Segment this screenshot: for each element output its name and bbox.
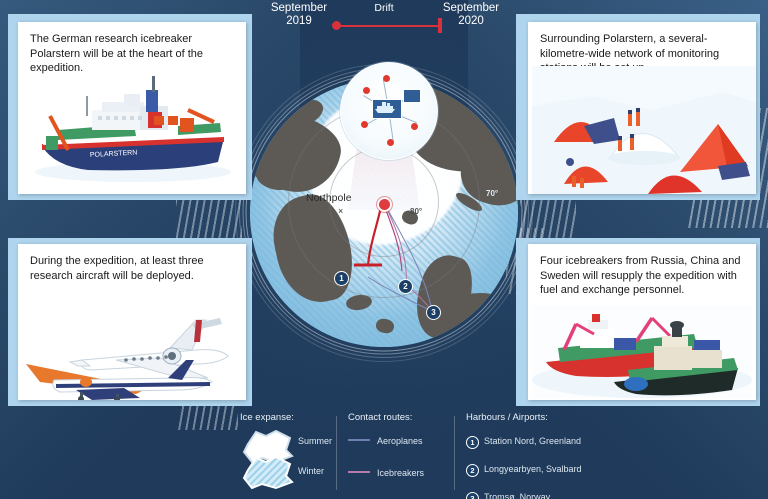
- drift-end-year: 2020: [432, 15, 510, 28]
- legend-harbour-item-3[interactable]: 3Tromsø, Norway: [466, 487, 666, 499]
- route-line-icebreakers-icon: [348, 471, 370, 473]
- ice-swatch-winter-icon: [242, 456, 296, 490]
- legend-harbour-item-2[interactable]: 2Longyearbyen, Svalbard: [466, 459, 666, 477]
- monitoring-station-dot-5[interactable]: [387, 139, 394, 146]
- panel-top-right[interactable]: Surrounding Polarstern, a several-kilome…: [528, 22, 756, 194]
- illustration-research-aircraft: [20, 294, 246, 400]
- legend-harbour-item-1[interactable]: 1Station Nord, Greenland: [466, 431, 666, 449]
- panel-top-left[interactable]: The German research icebreaker Polarster…: [18, 22, 246, 194]
- legend-group-harbours: Harbours / Airports: 1Station Nord, Gree…: [466, 412, 666, 499]
- legend-harbour-3-label: Tromsø, Norway: [484, 492, 550, 499]
- arctic-map[interactable]: 80° 70° Northpole × 1 2 3: [236, 22, 532, 404]
- satellite-station-box: [403, 89, 421, 103]
- legend: Ice expanse: Summer Winter Contact route…: [236, 412, 676, 498]
- legend-ice-winter-label: Winter: [298, 466, 324, 476]
- monitoring-station-dot-1[interactable]: [363, 87, 370, 94]
- legend-harbour-2-label: Longyearbyen, Svalbard: [484, 464, 582, 474]
- route-line-aeroplanes-icon: [348, 439, 370, 441]
- legend-divider-1: [336, 416, 337, 490]
- legend-group-ice: Ice expanse: Summer Winter: [240, 412, 332, 431]
- legend-route-aeroplanes: Aeroplanes: [348, 431, 448, 449]
- legend-route-aeroplanes-label: Aeroplanes: [377, 436, 423, 446]
- drift-arrow-line: [336, 25, 440, 27]
- legend-divider-2: [454, 416, 455, 490]
- panel-bottom-right-text: Four icebreakers from Russia, China and …: [540, 254, 746, 298]
- legend-harbour-1-label: Station Nord, Greenland: [484, 436, 581, 446]
- map-marker-1[interactable]: 1: [334, 271, 349, 286]
- legend-routes-title: Contact routes:: [348, 412, 448, 423]
- harbour-badge-3-icon: 3: [466, 492, 479, 499]
- drift-end-month: September: [432, 2, 510, 15]
- harbour-badge-1-icon: 1: [466, 436, 479, 449]
- drift-label: Drift: [344, 2, 424, 14]
- monitoring-station-dot-4[interactable]: [411, 123, 418, 130]
- drift-end-cap: [438, 18, 442, 33]
- drift-start-date: September 2019: [260, 2, 338, 28]
- harbour-badge-2-icon: 2: [466, 464, 479, 477]
- illustration-ice-camp: [532, 66, 756, 194]
- legend-group-routes: Contact routes: Aeroplanes Icebreakers: [348, 412, 448, 481]
- map-marker-3[interactable]: 3: [426, 305, 441, 320]
- illustration-supply-icebreakers: [532, 306, 752, 398]
- drift-timeline: September 2019 Drift September 2020: [260, 2, 510, 36]
- monitoring-station-dot-6[interactable]: [361, 121, 368, 128]
- legend-route-icebreakers: Icebreakers: [348, 463, 448, 481]
- panel-bottom-left-text: During the expedition, at least three re…: [30, 254, 236, 283]
- infographic-canvas: 80° 70° Northpole × 1 2 3: [0, 0, 768, 499]
- illustration-polarstern: POLARSTERN: [28, 76, 238, 188]
- legend-route-icebreakers-label: Icebreakers: [377, 468, 424, 478]
- monitoring-station-dot-2[interactable]: [383, 75, 390, 82]
- legend-ice-summer-label: Summer: [298, 436, 332, 446]
- polarstern-ship-icon[interactable]: [372, 99, 402, 119]
- map-marker-2[interactable]: 2: [398, 279, 413, 294]
- panel-top-left-text: The German research icebreaker Polarster…: [30, 32, 236, 76]
- drift-start-month: September: [260, 2, 338, 15]
- legend-harbours-title: Harbours / Airports:: [466, 412, 666, 423]
- panel-bottom-right[interactable]: Four icebreakers from Russia, China and …: [528, 244, 756, 400]
- legend-ice-title: Ice expanse:: [240, 412, 332, 423]
- ship-icon: [373, 100, 398, 115]
- monitoring-network-inset[interactable]: [340, 62, 438, 160]
- drift-start-year: 2019: [260, 15, 338, 28]
- panel-bottom-left[interactable]: During the expedition, at least three re…: [18, 244, 246, 400]
- drift-end-date: September 2020: [432, 2, 510, 28]
